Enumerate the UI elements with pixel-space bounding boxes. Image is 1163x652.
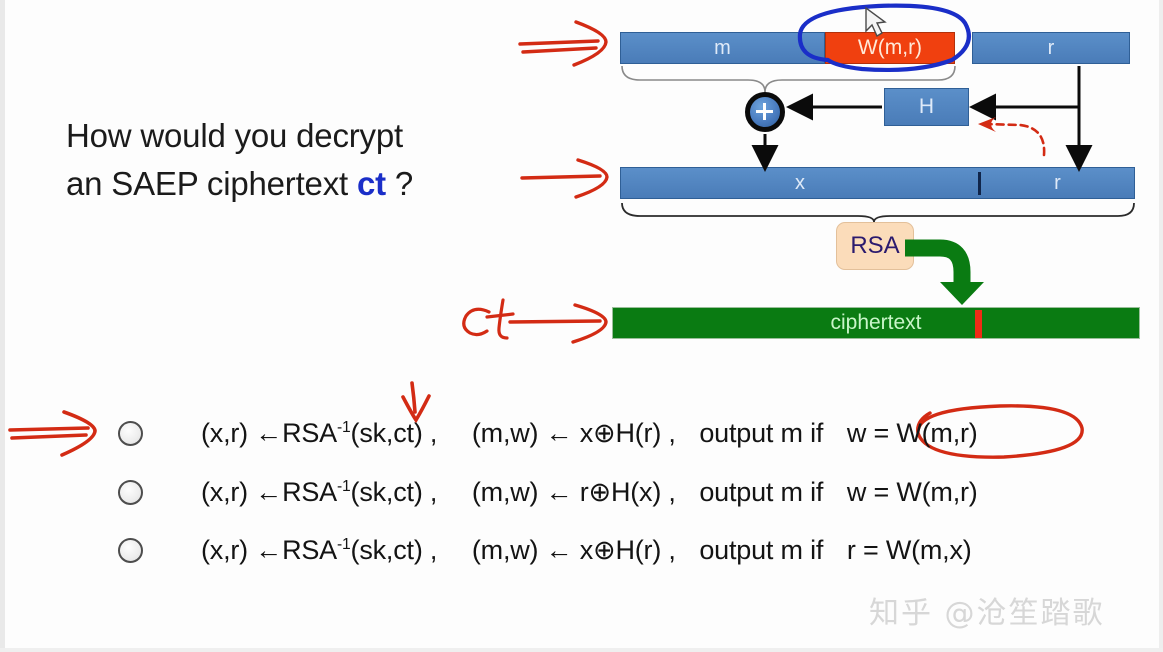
option-3-part2: (m,w) ← x⊕H(r) , xyxy=(472,535,676,565)
diagram-block-r-label: r xyxy=(981,168,1134,198)
page-edge-left xyxy=(0,0,5,652)
option-2-part3-pre: output m if xyxy=(699,477,823,507)
option-2-part2: (m,w) ← r⊕H(x) , xyxy=(472,477,676,507)
ciphertext-bar: ciphertext xyxy=(612,307,1140,339)
option-row-1[interactable]: (x,r) ←RSA-1(sk,ct) , (m,w) ← x⊕H(r) , o… xyxy=(118,418,978,449)
xor-node-icon xyxy=(745,92,785,132)
ciphertext-bar-label: ciphertext xyxy=(830,311,921,335)
question-line-1: How would you decrypt xyxy=(66,112,536,160)
page-edge-right xyxy=(1159,0,1163,652)
question-line-2-prefix: an SAEP ciphertext xyxy=(66,165,348,202)
option-3-part1-tail: (sk,ct) , xyxy=(351,535,438,565)
option-1-sup: -1 xyxy=(337,419,351,436)
question-line-2: an SAEP ciphertext ct ? xyxy=(66,160,536,208)
question-text: How would you decrypt an SAEP ciphertext… xyxy=(66,112,536,208)
option-3-text: (x,r) ←RSA-1(sk,ct) , (m,w) ← x⊕H(r) , o… xyxy=(201,535,972,566)
option-2-part1: (x,r) ←RSA xyxy=(201,477,337,507)
option-3-part3-circled: r = W(m,x) xyxy=(847,535,972,565)
option-2-text: (x,r) ←RSA-1(sk,ct) , (m,w) ← r⊕H(x) , o… xyxy=(201,477,978,508)
option-1-part3-circled: w = W(m,r) xyxy=(847,418,978,448)
option-1-part2: (m,w) ← x⊕H(r) , xyxy=(472,418,676,448)
option-1-text: (x,r) ←RSA-1(sk,ct) , (m,w) ← x⊕H(r) , o… xyxy=(201,418,978,449)
radio-option-2[interactable] xyxy=(118,480,143,505)
diagram-block-r-top: r xyxy=(972,32,1130,64)
diagram-block-m: m xyxy=(620,32,825,64)
diagram-block-w: W(m,r) xyxy=(825,32,955,64)
diagram-block-m-label: m xyxy=(714,37,731,60)
option-2-part3-circled: w = W(m,r) xyxy=(847,477,978,507)
page-edge-bottom xyxy=(0,648,1163,652)
rsa-box-label: RSA xyxy=(850,232,899,260)
radio-option-3[interactable] xyxy=(118,538,143,563)
slide-canvas: How would you decrypt an SAEP ciphertext… xyxy=(0,0,1163,652)
option-3-sup: -1 xyxy=(337,536,351,553)
option-2-sup: -1 xyxy=(337,478,351,495)
option-2-part1-tail: (sk,ct) , xyxy=(351,477,438,507)
question-line-2-suffix: ? xyxy=(395,165,413,202)
rsa-box: RSA xyxy=(836,222,914,270)
ciphertext-split-marker xyxy=(975,310,982,338)
option-row-2[interactable]: (x,r) ←RSA-1(sk,ct) , (m,w) ← r⊕H(x) , o… xyxy=(118,477,978,508)
diagram-block-w-label: W(m,r) xyxy=(858,36,922,60)
option-row-3[interactable]: (x,r) ←RSA-1(sk,ct) , (m,w) ← x⊕H(r) , o… xyxy=(118,535,972,566)
diagram-block-x-label: x xyxy=(621,168,979,198)
option-1-part1-tail: (sk,ct) , xyxy=(351,418,438,448)
diagram-block-r-top-label: r xyxy=(1048,37,1055,60)
diagram-block-xr: x r xyxy=(620,167,1135,199)
option-3-part1: (x,r) ←RSA xyxy=(201,535,337,565)
ct-token: ct xyxy=(357,165,386,202)
diagram-hash-box-label: H xyxy=(919,95,934,119)
option-1-part3-pre: output m if xyxy=(699,418,823,448)
radio-option-1[interactable] xyxy=(118,421,143,446)
option-1-part1: (x,r) ←RSA xyxy=(201,418,337,448)
diagram-hash-box: H xyxy=(884,88,969,126)
watermark: 知乎 @沧笙踏歌 xyxy=(869,588,1105,632)
option-3-part3-pre: output m if xyxy=(699,535,823,565)
